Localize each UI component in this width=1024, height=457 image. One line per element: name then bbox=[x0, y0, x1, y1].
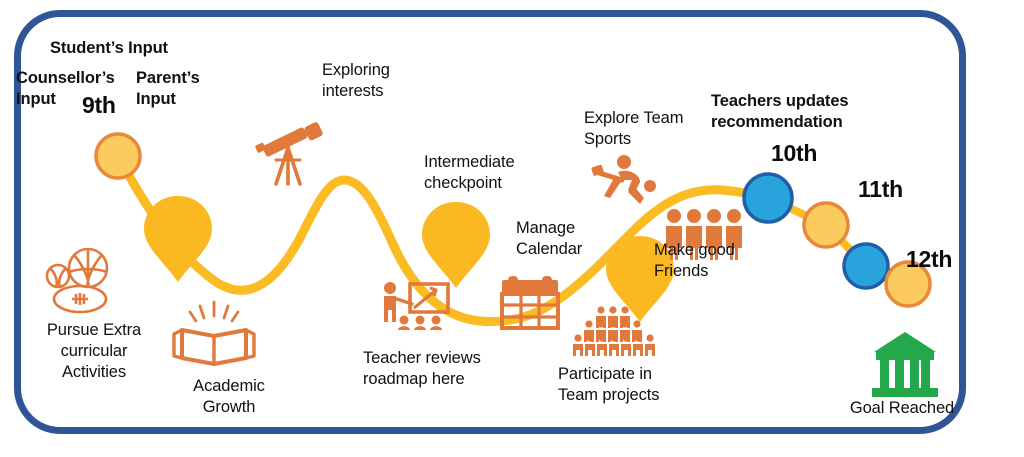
grade-label-10th: 10th bbox=[771, 140, 817, 167]
label-explore-team-sports: Explore Team Sports bbox=[584, 108, 704, 150]
label-students-input: Student’s Input bbox=[50, 38, 168, 59]
label-counsellors-input: Counsellor’s Input bbox=[16, 68, 136, 110]
label-teacher-reviews-roadmap: Teacher reviews roadmap here bbox=[363, 348, 513, 390]
label-goal-reached: Goal Reached bbox=[835, 398, 969, 419]
label-teachers-updates-recommendation: Teachers updates recommendation bbox=[711, 91, 901, 133]
label-exploring-interests: Exploring interests bbox=[322, 60, 432, 102]
label-manage-calendar: Manage Calendar bbox=[516, 218, 616, 260]
label-intermediate-checkpoint: Intermediate checkpoint bbox=[424, 152, 554, 194]
label-academic-growth: Academic Growth bbox=[174, 376, 284, 418]
infographic-canvas: Student’s Input Counsellor’s Input Paren… bbox=[0, 0, 1024, 457]
grade-label-11th: 11th bbox=[858, 176, 903, 203]
label-pursue-extra-curricular-activities: Pursue Extra curricular Activities bbox=[36, 320, 152, 382]
label-make-good-friends: Make good Friends bbox=[654, 240, 764, 282]
grade-label-12th: 12th bbox=[906, 246, 952, 273]
label-parents-input: Parent’s Input bbox=[136, 68, 226, 110]
grade-label-9th: 9th bbox=[82, 92, 116, 119]
label-participate-team-projects: Participate in Team projects bbox=[558, 364, 698, 406]
